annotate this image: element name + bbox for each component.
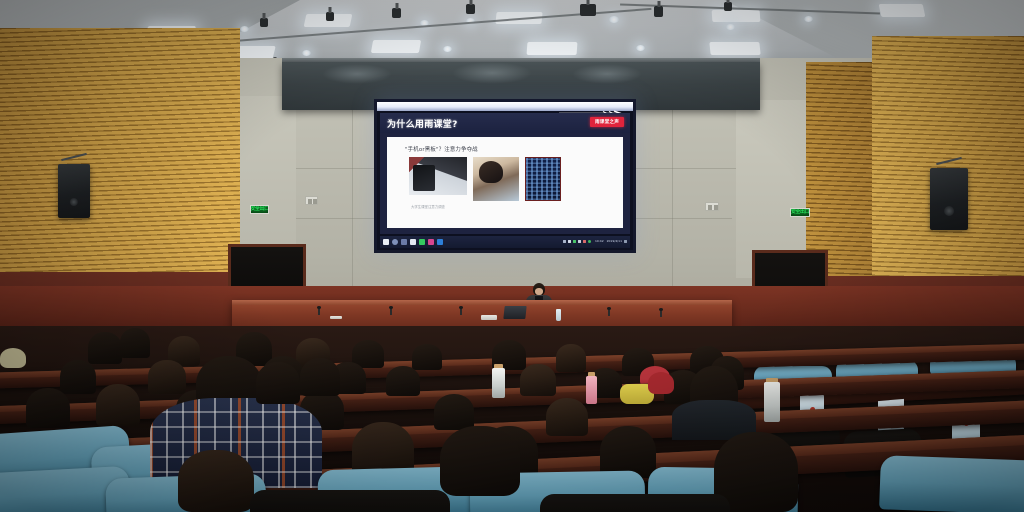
ceiling-downlight bbox=[636, 45, 645, 51]
cloud-icon[interactable] bbox=[588, 240, 591, 243]
audience-area bbox=[0, 326, 1024, 512]
taskbar-app-icons[interactable] bbox=[383, 239, 443, 245]
audience-person bbox=[300, 358, 340, 396]
track-spotlight bbox=[260, 18, 268, 27]
audience-person bbox=[26, 388, 70, 428]
ceiling-panel-light bbox=[709, 42, 760, 55]
ceiling-panel-light bbox=[712, 10, 761, 22]
edge-icon[interactable] bbox=[437, 239, 443, 245]
audience-person bbox=[256, 362, 300, 404]
table-document-stack bbox=[481, 315, 497, 320]
audience-person-front bbox=[440, 426, 520, 496]
foreground-seat-shadow bbox=[540, 494, 730, 512]
white-thermos bbox=[764, 382, 780, 422]
presenter-laptop bbox=[503, 306, 526, 319]
file-explorer-icon[interactable] bbox=[410, 239, 416, 245]
right-wall-speaker bbox=[930, 168, 968, 230]
student-writing-photo bbox=[473, 157, 519, 201]
ceiling-downlight bbox=[609, 16, 619, 23]
windows-taskbar[interactable]: 10:42 2019/4/11 bbox=[380, 236, 630, 248]
taskbar-clock-time[interactable]: 10:42 bbox=[595, 240, 604, 243]
presenter-water-bottle bbox=[556, 309, 561, 321]
left-wall-speaker bbox=[58, 164, 90, 218]
slide-titlebar: 为什么用雨课堂? 雨课堂之声 bbox=[380, 113, 630, 133]
audience-person bbox=[96, 384, 140, 426]
slide-photo-row bbox=[409, 157, 615, 201]
wood-slat-wall-right-inner bbox=[806, 62, 872, 280]
ceiling-panel-light bbox=[371, 40, 421, 53]
table-microphone bbox=[608, 309, 610, 316]
lecture-hall-scene: 安全出口 安全出口 为什么用雨课堂? 雨课堂之声 "手机or黑板"？注意 bbox=[0, 0, 1024, 512]
wechat-icon[interactable] bbox=[419, 239, 425, 245]
audience-person bbox=[120, 328, 150, 358]
foreground-seat-shadow bbox=[250, 490, 450, 512]
audience-person bbox=[434, 394, 474, 430]
wood-slat-wall-left bbox=[0, 28, 240, 278]
audience-person bbox=[556, 344, 586, 372]
presentation-slide: 为什么用雨课堂? 雨课堂之声 "手机or黑板"？注意力争夺战 大学生课堂注意力调… bbox=[380, 113, 630, 234]
track-spotlight bbox=[326, 12, 334, 21]
volume-icon[interactable] bbox=[573, 240, 576, 243]
audience-person bbox=[60, 360, 96, 394]
audience-person bbox=[88, 332, 122, 364]
task-view-icon[interactable] bbox=[401, 239, 407, 245]
table-microphone bbox=[318, 308, 320, 315]
foreground-seat[interactable] bbox=[879, 455, 1024, 512]
start-icon[interactable] bbox=[383, 239, 389, 245]
right-wall-switch-plate[interactable] bbox=[705, 202, 719, 211]
speaker-cone bbox=[70, 198, 78, 207]
valance-light-reflection bbox=[322, 64, 392, 84]
projection-screen: 为什么用雨课堂? 雨课堂之声 "手机or黑板"？注意力争夺战 大学生课堂注意力调… bbox=[374, 99, 636, 253]
audience-person bbox=[412, 344, 442, 370]
slide-body: "手机or黑板"？注意力争夺战 大学生课堂注意力调查 bbox=[387, 137, 623, 228]
phone-and-notes-photo bbox=[409, 157, 467, 195]
audience-clothing bbox=[0, 348, 26, 368]
audience-person bbox=[546, 398, 588, 436]
search-icon[interactable] bbox=[392, 239, 398, 245]
table-microphone bbox=[390, 308, 392, 315]
powerpoint-icon[interactable] bbox=[428, 239, 434, 245]
presenter-face bbox=[535, 288, 543, 295]
audience-person bbox=[148, 360, 186, 394]
audience-clothing bbox=[648, 372, 674, 394]
track-spotlight bbox=[654, 6, 663, 17]
table-microphone bbox=[460, 308, 462, 315]
ceiling-panel-light bbox=[879, 4, 926, 17]
left-wall-switch-plate[interactable] bbox=[305, 196, 318, 205]
slide-title: 为什么用雨课堂? bbox=[387, 117, 458, 130]
track-spotlight bbox=[724, 2, 732, 11]
ceiling-downlight bbox=[726, 24, 735, 30]
valance-light-reflection bbox=[572, 64, 642, 84]
head-table-surface bbox=[232, 300, 732, 305]
ceiling-projector bbox=[580, 4, 596, 16]
table-microphone bbox=[660, 310, 662, 317]
track-spotlight bbox=[466, 4, 475, 14]
exit-sign-left-label: 安全出口 bbox=[250, 207, 268, 212]
speaker-cone bbox=[944, 206, 954, 216]
exit-sign-left: 安全出口 bbox=[250, 205, 269, 214]
audience-person bbox=[520, 364, 556, 396]
track-spotlight bbox=[392, 8, 401, 18]
ceiling-downlight bbox=[443, 46, 452, 52]
ceiling-downlight bbox=[302, 50, 311, 56]
battery-icon[interactable] bbox=[583, 240, 586, 243]
ceiling-downlight bbox=[240, 26, 249, 32]
slide-subtitle: "手机or黑板"？注意力争夺战 bbox=[405, 145, 615, 153]
pink-thermos bbox=[586, 376, 597, 404]
ceiling-panel-light bbox=[527, 42, 578, 55]
valance-light-reflection bbox=[452, 62, 532, 84]
slide-photo-caption: 大学生课堂注意力调查 bbox=[411, 204, 615, 209]
taskbar-clock-date[interactable]: 2019/4/11 bbox=[607, 240, 622, 243]
chevron-up-icon[interactable] bbox=[563, 240, 566, 243]
white-thermos bbox=[492, 368, 505, 398]
taskbar-system-tray[interactable]: 10:42 2019/4/11 bbox=[563, 240, 627, 243]
ime-icon[interactable] bbox=[578, 240, 581, 243]
lecture-hall-grid-photo bbox=[525, 157, 561, 201]
exit-sign-right: 安全出口 bbox=[790, 208, 810, 217]
table-nameplate bbox=[330, 316, 342, 319]
show-desktop-icon[interactable] bbox=[624, 240, 627, 243]
audience-person bbox=[386, 366, 420, 396]
exit-sign-right-label: 安全出口 bbox=[791, 210, 809, 215]
slide-badge: 雨课堂之声 bbox=[590, 117, 624, 127]
ceiling-downlight bbox=[804, 16, 813, 22]
network-icon[interactable] bbox=[568, 240, 571, 243]
audience-person-front bbox=[178, 450, 254, 512]
